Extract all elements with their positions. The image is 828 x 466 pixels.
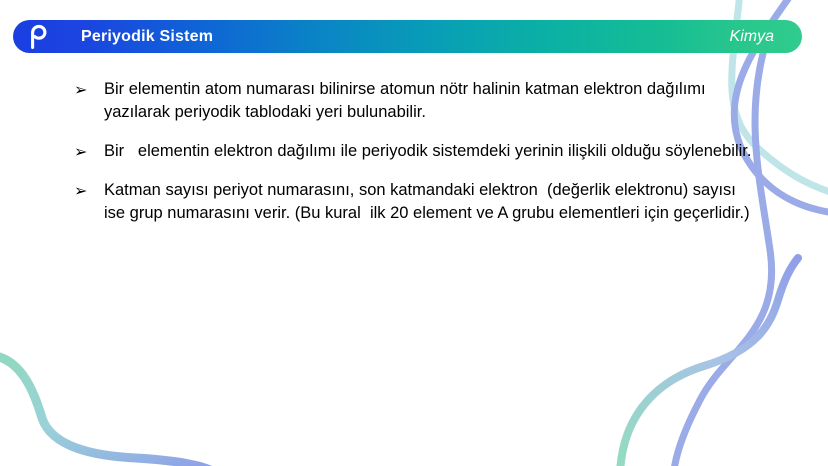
- list-item: ➢ Katman sayısı periyot numarasını, son …: [0, 179, 828, 225]
- arrow-bullet-icon: ➢: [74, 140, 104, 163]
- slide-canvas: Periyodik Sistem Kimya ➢ Bir elementin a…: [0, 0, 828, 466]
- page-title: Periyodik Sistem: [81, 28, 213, 46]
- arrow-bullet-icon: ➢: [74, 78, 104, 101]
- list-item: ➢ Bir elementin atom numarası bilinirse …: [0, 78, 828, 124]
- brand-p-logo-icon: [22, 23, 49, 50]
- bottom-right-gradient-curve: [620, 258, 798, 466]
- list-item-text: Bir elementin atom numarası bilinirse at…: [104, 78, 758, 124]
- list-item-text: Katman sayısı periyot numarasını, son ka…: [104, 179, 758, 225]
- list-item-text: Bir elementin elektron dağılımı ile peri…: [104, 140, 758, 163]
- slide-header-bar: Periyodik Sistem Kimya: [13, 20, 802, 53]
- arrow-bullet-icon: ➢: [74, 179, 104, 202]
- subject-label: Kimya: [730, 28, 774, 46]
- bottom-left-gradient-curve: [0, 355, 210, 466]
- list-item: ➢ Bir elementin elektron dağılımı ile pe…: [0, 140, 828, 163]
- slide-body: ➢ Bir elementin atom numarası bilinirse …: [0, 78, 828, 241]
